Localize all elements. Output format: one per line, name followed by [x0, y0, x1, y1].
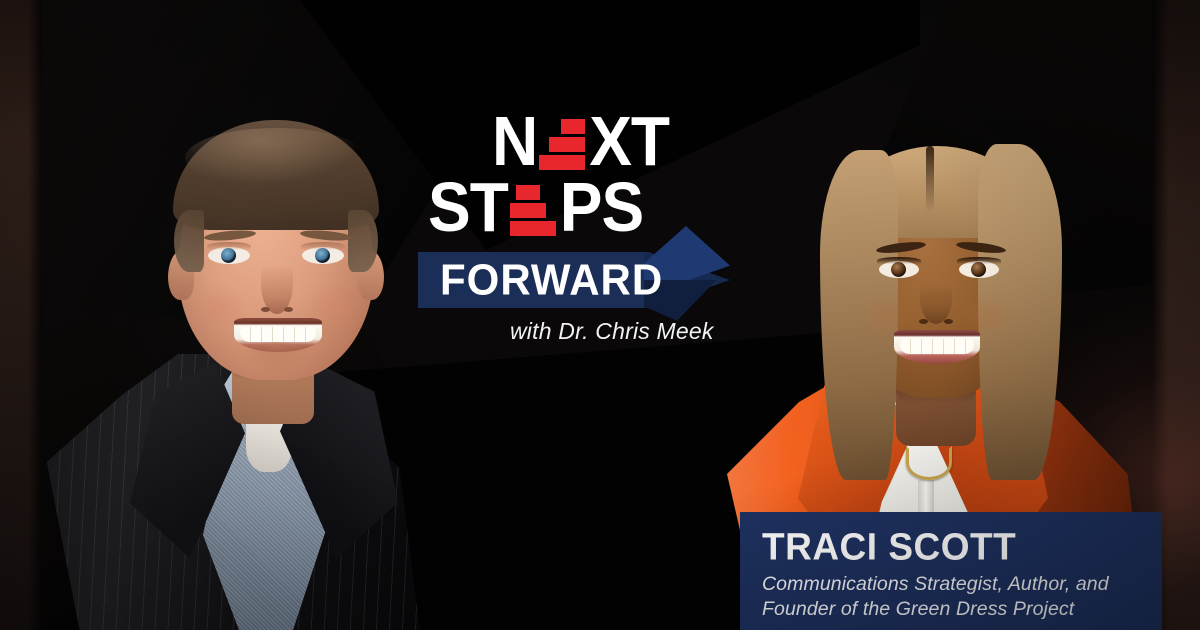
guest-nostril-left [919, 319, 928, 324]
guest-hair-part [926, 146, 934, 212]
host-temple-right [348, 210, 378, 272]
guest-title: Communications Strategist, Author, and F… [762, 572, 1154, 622]
host-temple-left [174, 210, 204, 272]
logo-next-suffix: XT [589, 106, 669, 175]
host-teeth [240, 327, 316, 342]
host-nostril-right [284, 307, 293, 312]
logo-steps-suffix: PS [560, 172, 643, 241]
logo-steps-prefix: ST [428, 172, 508, 241]
guest-eyelash-left [877, 257, 921, 264]
guest-nose [920, 272, 952, 324]
logo-line-next: N XT [418, 104, 748, 178]
podcast-logo: N XT ST PS FORWARD with Dr. Chris Meek [418, 104, 748, 340]
host-eyelid-left [207, 242, 251, 250]
forward-banner: FORWARD [418, 252, 748, 308]
host-nose [261, 254, 293, 314]
guest-necklace [906, 446, 952, 480]
host-portrait [18, 0, 438, 630]
guest-nostril-right [944, 319, 953, 324]
podcast-episode-graphic: N XT ST PS FORWARD with Dr. Chris Meek T… [0, 0, 1200, 630]
logo-line-steps: ST PS [418, 170, 748, 244]
host-chin [240, 342, 312, 376]
guest-name-plate: TRACI SCOTT Communications Strategist, A… [740, 512, 1162, 630]
guest-name: TRACI SCOTT [762, 525, 1016, 568]
forward-label: FORWARD [440, 251, 663, 309]
guest-title-line-1: Communications Strategist, Author, and [762, 572, 1154, 597]
guest-title-line-2: Founder of the Green Dress Project [762, 597, 1154, 622]
guest-eyelash-right [957, 257, 1001, 264]
host-tagline: with Dr. Chris Meek [510, 318, 750, 345]
red-staircase-icon [539, 116, 587, 170]
red-staircase-icon [510, 182, 558, 236]
logo-next-prefix: N [492, 106, 537, 175]
host-nostril-left [261, 307, 270, 312]
guest-teeth [900, 339, 974, 354]
host-eyelid-right [301, 242, 345, 250]
